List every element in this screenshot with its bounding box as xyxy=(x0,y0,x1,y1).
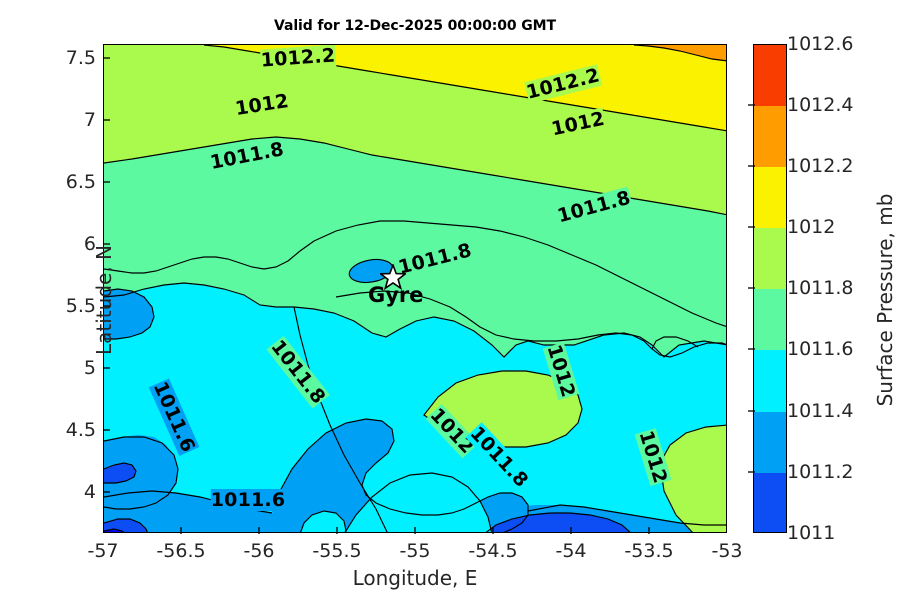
colorbar-band xyxy=(754,45,786,106)
colorbar-tick-label: 1011.8 xyxy=(787,277,853,299)
x-tick-label: -53.5 xyxy=(624,540,673,562)
y-axis-label: Latitude, N xyxy=(92,170,116,430)
colorbar-tick-label: 1011.2 xyxy=(787,461,853,483)
colorbar-tick-label: 1011 xyxy=(787,522,835,544)
marker-label: Gyre xyxy=(368,283,424,307)
x-tick-label: -55.5 xyxy=(312,540,361,562)
colorbar-band xyxy=(754,473,786,533)
colorbar-tick-label: 1011.4 xyxy=(787,400,853,422)
colorbar-band xyxy=(754,106,786,167)
plot-area: 1012.2 1012 1011.8 1012.2 1012 1011.8 10… xyxy=(103,44,727,533)
colorbar-tick-marks xyxy=(747,44,755,533)
colorbar-band xyxy=(754,412,786,473)
x-tick-label: -55 xyxy=(399,540,430,562)
x-tick-marks xyxy=(103,526,727,534)
y-tick-label: 4 xyxy=(84,481,96,503)
x-tick-label: -56.5 xyxy=(156,540,205,562)
contour-label: 1011.6 xyxy=(211,489,286,511)
colorbar-band xyxy=(754,289,786,350)
x-tick-label: -54 xyxy=(555,540,586,562)
colorbar-tick-label: 1012.2 xyxy=(787,155,853,177)
colorbar-tick-label: 1011.6 xyxy=(787,338,853,360)
contour-figure: Valid for 12-Dec-2025 00:00:00 GMT xyxy=(0,0,900,600)
colorbar-band xyxy=(754,350,786,411)
colorbar-band xyxy=(754,167,786,228)
x-axis-label: Longitude, E xyxy=(103,566,727,590)
colorbar-band xyxy=(754,228,786,289)
y-axis-ticks: 7.5 7 6.5 6 5.5 5 4.5 4 xyxy=(10,44,96,533)
figure-title: Valid for 12-Dec-2025 00:00:00 GMT xyxy=(103,18,727,34)
colorbar xyxy=(753,44,787,533)
y-axis-label-wrap: Latitude, N xyxy=(60,44,61,533)
colorbar-tick-label: 1012.4 xyxy=(787,94,853,116)
y-tick-label: 7.5 xyxy=(66,47,96,69)
colorbar-label-wrap: Surface Pressure, mb xyxy=(875,44,876,533)
x-tick-label: -53 xyxy=(711,540,742,562)
y-tick-label: 7 xyxy=(84,109,96,131)
colorbar-label: Surface Pressure, mb xyxy=(873,150,897,450)
x-tick-label: -56 xyxy=(243,540,274,562)
colorbar-tick-label: 1012.6 xyxy=(787,33,853,55)
x-tick-label: -54.5 xyxy=(468,540,517,562)
x-tick-label: -57 xyxy=(87,540,118,562)
colorbar-tick-label: 1012 xyxy=(787,216,835,238)
